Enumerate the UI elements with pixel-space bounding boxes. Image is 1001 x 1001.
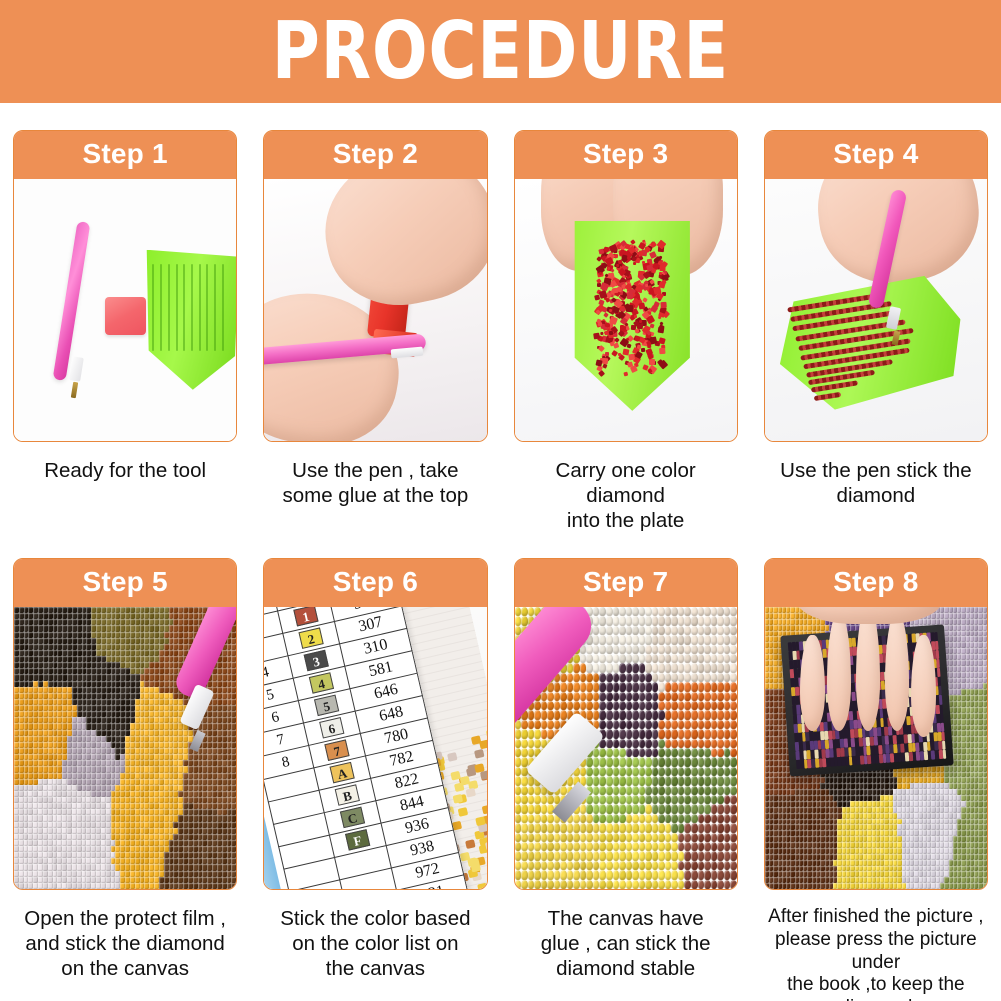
procedure-infographic: PROCEDURE Step 1 R [0,0,1001,1001]
pen-pick-scene [765,179,987,441]
step-2-header: Step 2 [264,131,486,179]
step-2-card: Step 2 [263,130,487,442]
red-drills [572,221,692,411]
pen-nib-icon [71,382,78,399]
symbol-swatch: 4 [308,672,333,694]
green-tray-icon [143,250,236,390]
step-1-header: Step 1 [14,131,236,179]
symbol-swatch: C [339,806,364,828]
symbol-swatch: 5 [313,694,338,716]
step-7-caption: The canvas have glue , can stick the dia… [514,906,738,981]
pen-tip-icon [69,356,84,381]
wax-square-icon [105,297,146,335]
step-8-card: Step 8 [764,558,988,890]
step-4-image [765,179,987,441]
step-card-3: Step 3 Carry one color diamond into the … [501,103,751,543]
glue-scene [264,179,486,441]
step-3-header: Step 3 [515,131,737,179]
step-card-6: Step 6 121300323074331054581656467664887… [250,543,500,1001]
step-5-header: Step 5 [14,559,236,607]
step-card-4: Step 4 Use the pen stick the diamond [751,103,1001,543]
aligned-drill-rows [765,179,987,441]
symbol-swatch: B [334,784,359,806]
symbol-swatch: 2 [298,627,323,649]
step-8-image [765,607,987,889]
tray-drills-scene [515,179,737,441]
step-3-caption: Carry one color diamond into the plate [514,458,738,533]
symbol-swatch: 6 [319,716,344,738]
step-3-card: Step 3 [514,130,738,442]
symbol-swatch: 3 [303,649,328,671]
green-tray-icon [572,221,692,411]
page-title: PROCEDURE [272,12,729,91]
step-5-card: Step 5 [13,558,237,890]
pen-tip-icon [391,347,424,359]
step-card-2: Step 2 Use the pen , take some glue at t… [250,103,500,543]
step-8-caption: After finished the picture , please pres… [751,906,1001,1001]
step-4-header: Step 4 [765,131,987,179]
finger-icon [911,635,935,737]
symbol-swatch: 1 [293,607,318,626]
step-7-header: Step 7 [515,559,737,607]
step-1-card: Step 1 [13,130,237,442]
step-6-card: Step 6 121300323074331054581656467664887… [263,558,487,890]
step-6-caption: Stick the color based on the color list … [263,906,487,981]
pink-pen-icon [53,221,91,381]
step-3-image [515,179,737,441]
tray-grooves [143,250,236,390]
step-4-card: Step 4 [764,130,988,442]
step-1-caption: Ready for the tool [13,458,237,483]
tools-scene [14,179,236,441]
symbol-swatch: 7 [324,739,349,761]
symbol-swatch: A [329,761,354,783]
step-5-caption: Open the protect film , and stick the di… [13,906,237,981]
step-4-caption: Use the pen stick the diamond [764,458,988,508]
step-6-image: 121300323074331054581656467664887780A782… [264,607,486,889]
step-card-1: Step 1 Ready for the tool [0,103,250,543]
sunflower-mosaic-scene [14,607,236,889]
page-banner: PROCEDURE [0,0,1001,103]
press-book-scene [765,607,987,889]
step-1-image [14,179,236,441]
color-chart-scene: 121300323074331054581656467664887780A782… [264,607,486,889]
step-2-image [264,179,486,441]
step-7-card: Step 7 [514,558,738,890]
step-2-caption: Use the pen , take some glue at the top [263,458,487,508]
step-7-image [515,607,737,889]
step-5-image [14,607,236,889]
step-6-header: Step 6 [264,559,486,607]
step-card-5: Step 5 Open the protect film , and stick… [0,543,250,1001]
round-drills-scene [515,607,737,889]
finger-icon [800,635,824,731]
steps-grid: Step 1 Ready for the tool [0,103,1001,1001]
step-card-8: Step 8 After finished the picture , plea… [751,543,1001,1001]
step-8-header: Step 8 [765,559,987,607]
symbol-swatch: F [344,828,369,850]
step-card-7: Step 7 The canvas have glue , can stick … [501,543,751,1001]
